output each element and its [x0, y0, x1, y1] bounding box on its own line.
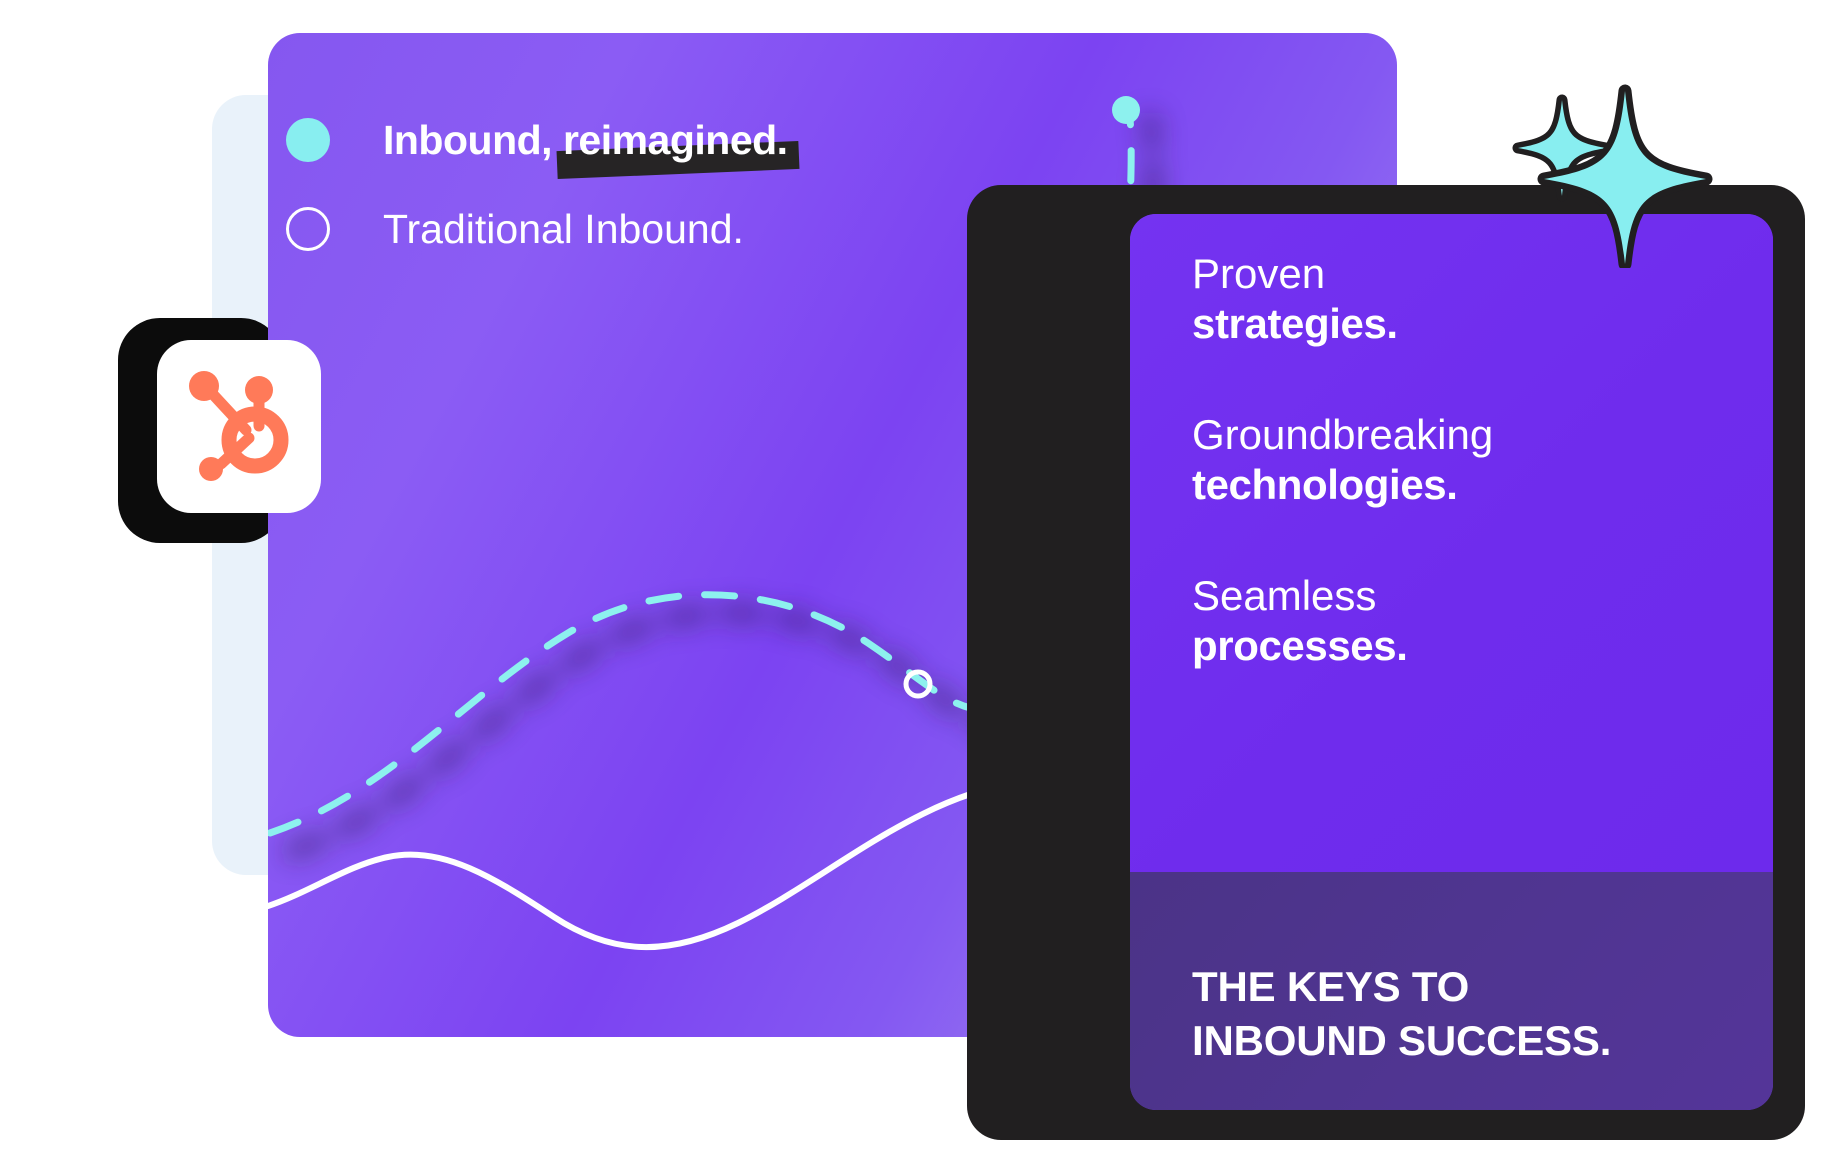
legend-label-plain-text: Inbound,: [383, 117, 563, 163]
legend-item-inbound-reimagined[interactable]: Inbound, reimagined.: [286, 108, 788, 172]
legend-item-traditional-inbound[interactable]: Traditional Inbound.: [286, 197, 788, 261]
legend-bullet-filled-icon: [286, 118, 330, 162]
hubspot-sprocket-icon: [183, 368, 295, 486]
keys-to-inbound-success-card: Proven strategies. Groundbreaking techno…: [1130, 214, 1773, 1110]
feature-strong-strategies: strategies.: [1192, 299, 1493, 349]
legend-label-traditional-inbound: Traditional Inbound.: [383, 209, 744, 250]
feature-thin-processes: Seamless: [1192, 571, 1493, 621]
feature-strong-processes: processes.: [1192, 621, 1493, 671]
chart-legend: Inbound, reimagined. Traditional Inbound…: [286, 108, 788, 261]
legend-bullet-hollow-icon: [286, 207, 330, 251]
legend-label-inbound-reimagined: Inbound, reimagined.: [383, 120, 788, 161]
feature-item-strategies: Proven strategies.: [1192, 249, 1493, 348]
feature-list: Proven strategies. Groundbreaking techno…: [1192, 249, 1493, 670]
legend-label-highlight-wrap: reimagined.: [563, 120, 788, 161]
sparkle-icon: [1506, 78, 1716, 268]
feature-item-processes: Seamless processes.: [1192, 571, 1493, 670]
feature-thin-strategies: Proven: [1192, 249, 1493, 299]
card-footer-title-line-1: THE KEYS TO: [1192, 960, 1611, 1014]
feature-item-technologies: Groundbreaking technologies.: [1192, 410, 1493, 509]
legend-label-highlight-text: reimagined.: [563, 117, 788, 163]
card-footer-title: THE KEYS TO INBOUND SUCCESS.: [1192, 960, 1611, 1068]
feature-thin-technologies: Groundbreaking: [1192, 410, 1493, 460]
feature-strong-technologies: technologies.: [1192, 460, 1493, 510]
card-footer-title-line-2: INBOUND SUCCESS.: [1192, 1014, 1611, 1068]
hubspot-logo-tile[interactable]: [157, 340, 321, 513]
illustration-canvas: Inbound, reimagined. Traditional Inbound…: [0, 0, 1833, 1173]
